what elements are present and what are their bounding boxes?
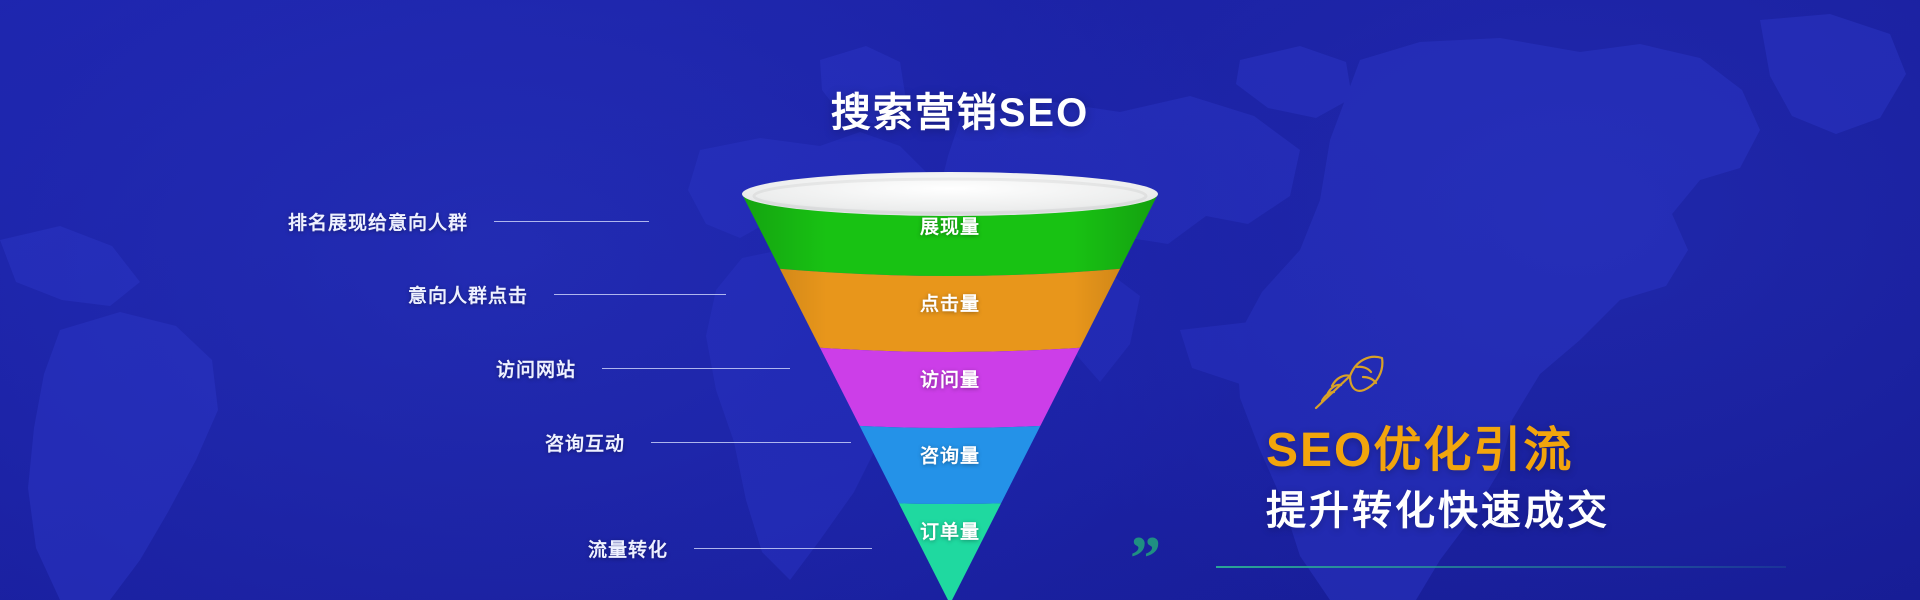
callout-label-impressions: 排名展现给意向人群	[288, 208, 468, 235]
callout-clicks: 意向人群点击	[408, 281, 726, 307]
callout-label-visits: 访问网站	[496, 355, 576, 382]
callout-label-conversions: 流量转化	[588, 535, 668, 562]
callout-impressions: 排名展现给意向人群	[288, 208, 649, 234]
page-title: 搜索营销SEO	[0, 80, 1920, 138]
callout-label-inquiries: 咨询互动	[545, 429, 625, 456]
callout-visits: 访问网站	[496, 355, 790, 381]
promo-subtitle: 提升转化快速成交	[1266, 478, 1610, 536]
callout-leader-line-visits	[602, 368, 790, 369]
callout-leader-line-inquiries	[651, 442, 851, 443]
callout-inquiries: 咨询互动	[545, 429, 851, 455]
callout-leader-line-impressions	[494, 221, 649, 222]
callout-label-clicks: 意向人群点击	[408, 281, 528, 308]
callout-conversions: 流量转化	[588, 535, 872, 561]
callout-leader-line-conversions	[694, 548, 872, 549]
quote-mark-icon: ”	[1130, 528, 1161, 590]
promo-title: SEO优化引流	[1266, 410, 1573, 480]
feather-leaf-icon	[1310, 350, 1388, 414]
seo-funnel-banner: 搜索营销SEO	[0, 0, 1920, 600]
callout-leader-line-clicks	[554, 294, 726, 295]
quote-divider-line	[1216, 566, 1786, 568]
promo-block: SEO优化引流 提升转化快速成交 ”	[1130, 350, 1830, 590]
